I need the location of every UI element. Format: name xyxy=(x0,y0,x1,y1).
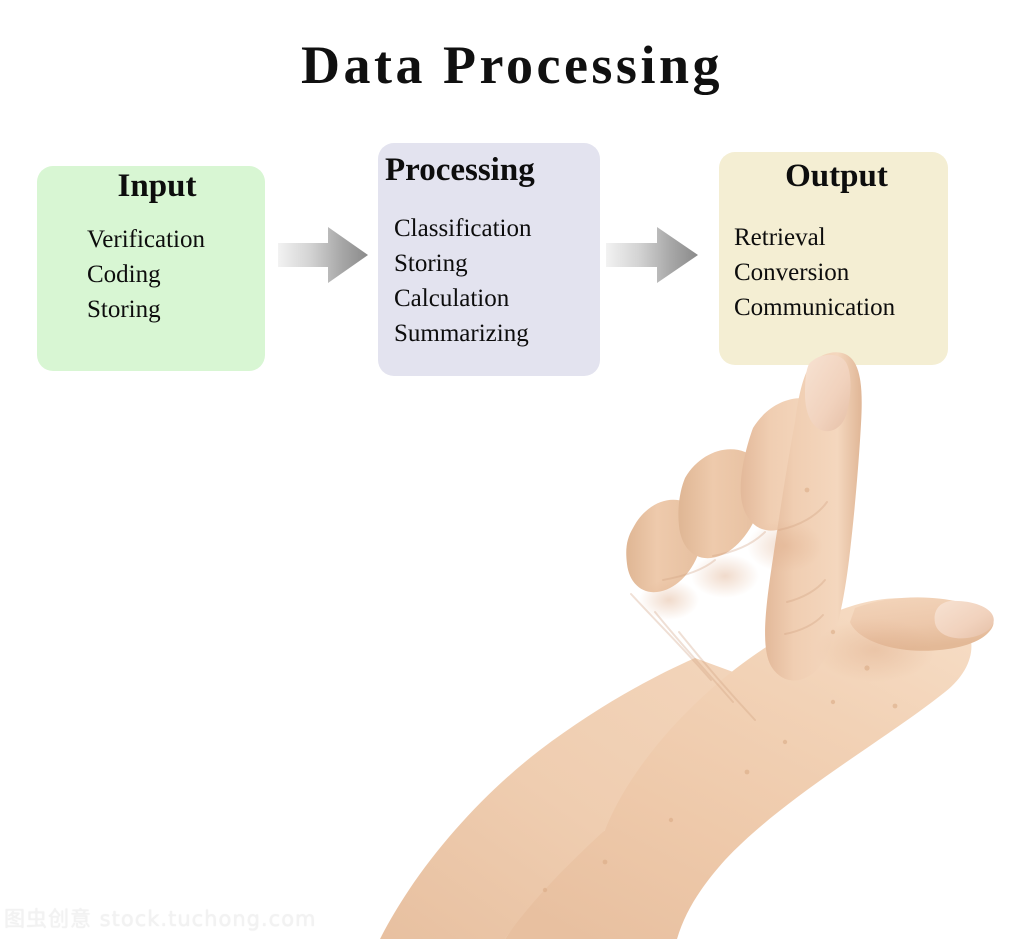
right-arrow-icon xyxy=(606,226,698,284)
watermark-text: 图虫创意 stock.tuchong.com xyxy=(4,903,317,933)
stage-title-output: Output xyxy=(719,160,948,193)
right-arrow-icon xyxy=(278,226,368,284)
stage-box-output[interactable]: Output Retrieval Conversion Communicatio… xyxy=(719,152,948,365)
stage-item: Storing xyxy=(87,292,205,327)
stage-box-input[interactable]: Input Verification Coding Storing xyxy=(37,166,265,371)
stage-items-processing: Classification Storing Calculation Summa… xyxy=(394,211,531,351)
stage-box-processing[interactable]: Processing Classification Storing Calcul… xyxy=(378,143,600,376)
stage-item: Retrieval xyxy=(734,220,895,255)
stage-title-processing: Processing xyxy=(385,154,535,187)
stage-item: Summarizing xyxy=(394,316,531,351)
stage-item: Storing xyxy=(394,246,531,281)
stage-title-input: Input xyxy=(37,170,265,203)
page-title: Data Processing xyxy=(0,34,1024,96)
stage-item: Conversion xyxy=(734,255,895,290)
stage-item: Calculation xyxy=(394,281,531,316)
stage-items-output: Retrieval Conversion Communication xyxy=(734,220,895,325)
stage-item: Classification xyxy=(394,211,531,246)
diagram-canvas: Data Processing Input Verification Codin… xyxy=(0,0,1024,939)
stage-items-input: Verification Coding Storing xyxy=(87,222,205,327)
stage-item: Verification xyxy=(87,222,205,257)
stage-item: Communication xyxy=(734,290,895,325)
pointing-hand-photo xyxy=(355,350,995,939)
stage-item: Coding xyxy=(87,257,205,292)
